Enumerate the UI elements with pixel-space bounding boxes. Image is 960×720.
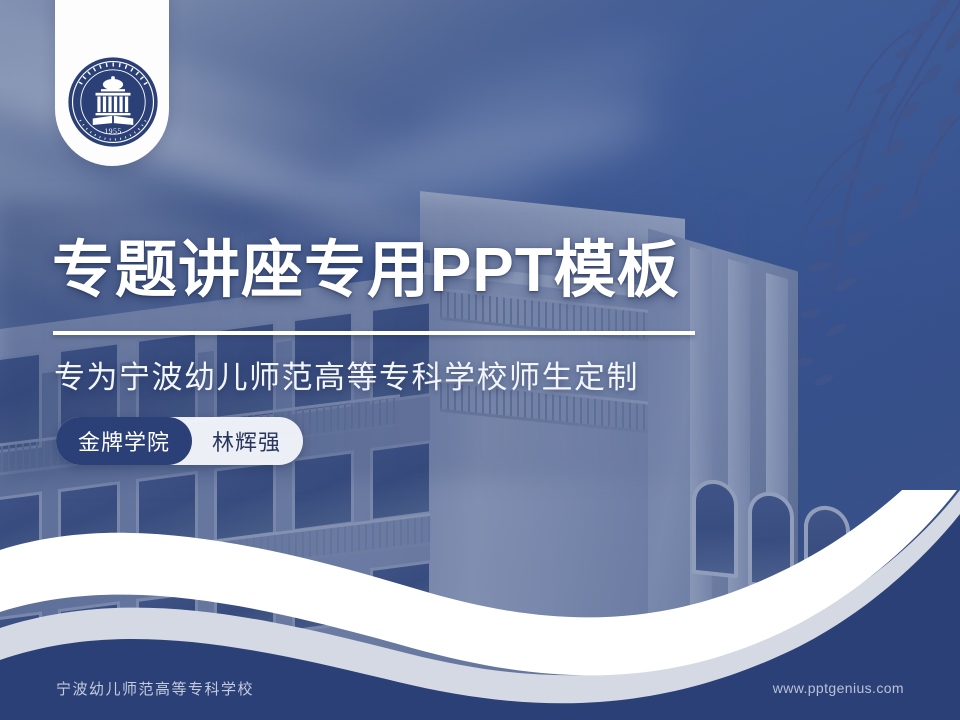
- page-subtitle: 专为宁波幼儿师范高等专科学校师生定制: [54, 352, 639, 397]
- presenter-badge[interactable]: 金牌学院 林辉强: [56, 417, 303, 465]
- college-seal-logo-icon: 1955: [67, 56, 159, 148]
- footer-website-url[interactable]: www.pptgenius.com: [773, 680, 904, 696]
- badge-category-label: 金牌学院: [56, 417, 192, 465]
- svg-text:1955: 1955: [104, 126, 121, 135]
- footer-institution-name: 宁波幼儿师范高等专科学校: [56, 678, 254, 699]
- badge-presenter-name: 林辉强: [192, 425, 281, 457]
- page-title: 专题讲座专用PPT模板: [52, 240, 680, 302]
- title-divider: [53, 331, 695, 335]
- presentation-title-slide: 1955 专题讲座专用PPT模板 专为宁波幼儿师范高等专科学校师生定制 金牌学院…: [0, 0, 960, 720]
